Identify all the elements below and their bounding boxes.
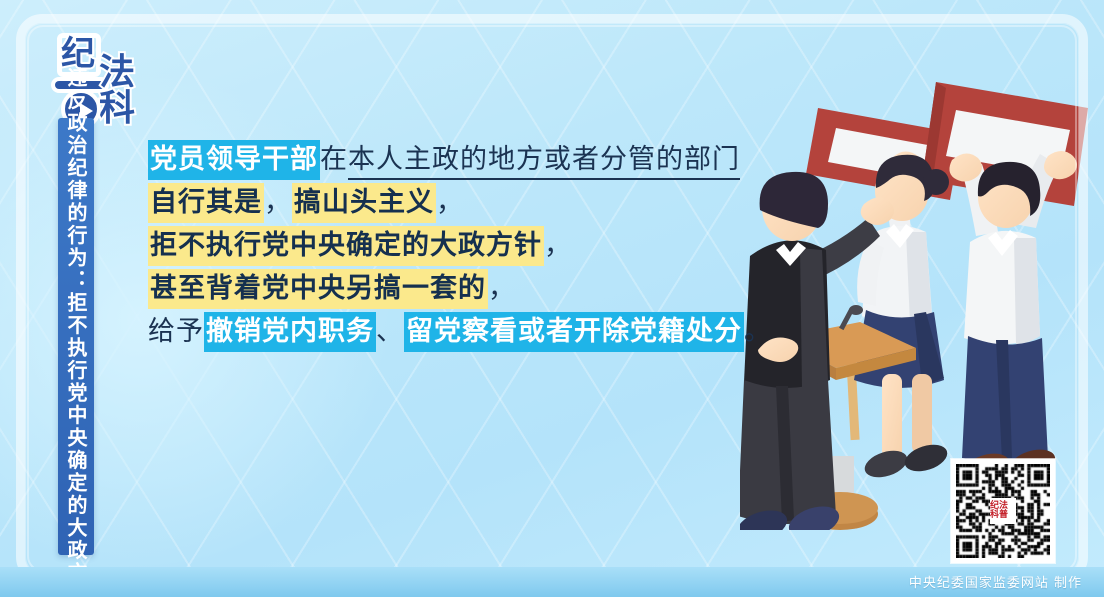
text-line: 自行其是，搞山头主义， bbox=[148, 189, 768, 216]
text-segment-hl-yellow: 搞山头主义 bbox=[292, 183, 436, 223]
text-line: 党员领导干部在本人主政的地方或者分管的部门 bbox=[148, 146, 768, 173]
text-segment-punct: 。 bbox=[744, 316, 772, 347]
qr-code[interactable]: 纪法科普 bbox=[951, 459, 1055, 563]
vertical-title-text: 违反政治纪律的行为：拒不执行党中央确定的大政方针 bbox=[66, 67, 86, 597]
text-segment-punct: ， bbox=[488, 273, 516, 304]
text-line: 拒不执行党中央确定的大政方针， bbox=[148, 232, 768, 259]
text-segment-punct: ， bbox=[264, 187, 292, 218]
vertical-title-band: 违反政治纪律的行为：拒不执行党中央确定的大政方针 bbox=[58, 118, 94, 555]
text-segment-hl-cyan: 党员领导干部 bbox=[148, 140, 320, 180]
text-segment-punct: ， bbox=[436, 187, 464, 218]
text-segment-hl-cyan: 留党察看或者开除党籍处分 bbox=[404, 312, 744, 352]
logo-char-fa: 法 bbox=[99, 55, 135, 91]
text-segment-punct: 、 bbox=[376, 316, 404, 347]
text-line: 给予撤销党内职务、留党察看或者开除党籍处分。 bbox=[148, 318, 768, 345]
qr-center-logo: 纪法科普 bbox=[990, 498, 1016, 524]
text-segment-hl-yellow: 甚至背着党中央另搞一套的 bbox=[148, 269, 488, 309]
qr-center-logo-text: 纪法科普 bbox=[990, 502, 1016, 520]
text-segment-hl-yellow: 自行其是 bbox=[148, 183, 264, 223]
logo-char-ke: 科 bbox=[99, 91, 135, 127]
text-segment-plain: 在 bbox=[320, 144, 348, 175]
text-segment-plain: 给予 bbox=[148, 316, 204, 347]
text-segment-hl-yellow: 拒不执行党中央确定的大政方针 bbox=[148, 226, 544, 266]
text-segment-under: 本人主政的地方或者分管的部门 bbox=[348, 144, 740, 180]
text-line: 甚至背着党中央另搞一套的， bbox=[148, 275, 768, 302]
footer-credit: 中央纪委国家监委网站 制作 bbox=[909, 572, 1082, 591]
text-segment-hl-cyan: 撤销党内职务 bbox=[204, 312, 376, 352]
poster-canvas: 纪 法 科 违反政治纪律的行为：拒不执行党中央确定的大政方针 党员领导干部在本人… bbox=[0, 0, 1104, 597]
text-segment-punct: ， bbox=[544, 230, 572, 261]
body-text-block: 党员领导干部在本人主政的地方或者分管的部门自行其是，搞山头主义，拒不执行党中央确… bbox=[148, 146, 768, 361]
